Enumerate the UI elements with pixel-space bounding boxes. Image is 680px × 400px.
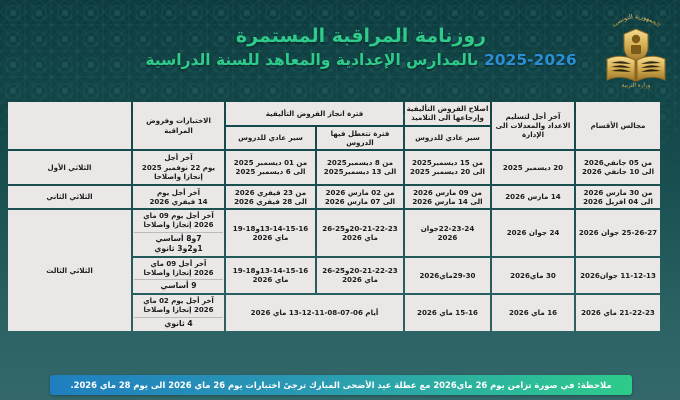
cell-level: آخر أجل يوم 02 ماي2026 إنجازا واصلاحا4 ث… bbox=[133, 295, 224, 330]
cell-councils: 21-22-23 ماي 2026 bbox=[576, 295, 660, 330]
col-subheader-suspended: فترة تتعطل فيها الدروس bbox=[317, 127, 403, 150]
cell-tests: آخر أجل يوم 09 ماي2026 إنجازا واصلاحا bbox=[134, 212, 223, 232]
continuous-assessment-calendar-table: مجالس الأقسام آخر أجل لتسليم الاعداد وال… bbox=[6, 100, 662, 333]
cell-tests: آخر أجل يوم 02 ماي2026 إنجازا واصلاحا bbox=[134, 297, 223, 317]
cell-tests: آخر أجل 09 ماي2026 إنجازا واصلاحا bbox=[134, 260, 223, 280]
col-header-exam-period-group: فترة انجاز الفروض التأليفية bbox=[226, 102, 403, 125]
cell-councils: 25-26-27 جوان 2026 bbox=[576, 210, 660, 256]
footer-note-banner: ملاحظة: في صورة تزامن يوم 26 ماي2026 مع … bbox=[50, 375, 632, 395]
cell-level-label: 4 ثانوي bbox=[134, 319, 223, 329]
col-header-councils: مجالس الأقسام bbox=[576, 102, 660, 149]
emblem-icon: الجمهورية التونسية وزارة التربية bbox=[601, 7, 671, 89]
cell-tests: آخر أجل يوم14 فيفري 2026 bbox=[133, 186, 224, 209]
cell-trimester: الثلاثي الثالث bbox=[8, 210, 131, 330]
cell-submit-deadline: 20 ديسمبر 2025 bbox=[492, 151, 574, 183]
col-header-tests-group: الاختبارات وفروض المراقبة bbox=[133, 102, 224, 149]
cell-trimester: الثلاثي الثاني bbox=[8, 186, 131, 209]
page-title-line1: روزنامة المراقبة المستمرة bbox=[145, 24, 576, 50]
svg-text:الجمهورية التونسية: الجمهورية التونسية bbox=[611, 13, 662, 29]
cell-submit-deadline: 30 ماي2026 bbox=[492, 258, 574, 293]
cell-suspended: من 02 مارس 2026الى 07 مارس 2026 bbox=[317, 186, 403, 209]
ministry-emblem-logo: الجمهورية التونسية وزارة التربية bbox=[600, 6, 672, 90]
cell-normal-left: من 23 فيفري 2026الى 28 فيفري 2026 bbox=[226, 186, 315, 209]
cell-submit-deadline: 16 ماي 2026 bbox=[492, 295, 574, 330]
svg-text:وزارة التربية: وزارة التربية bbox=[622, 83, 651, 89]
page-subtitle-text: بالمدارس الإعدادية والمعاهد للسنة الدراس… bbox=[145, 51, 478, 69]
cell-level: 7و8 أساسي1و2و3 ثانوي bbox=[134, 234, 223, 254]
cell-normal-left: 13-14-15-16و18-19ماي 2026 bbox=[226, 258, 315, 293]
cell-level-label: 9 أساسي bbox=[134, 281, 223, 291]
cell-councils: 11-12-13 جوان2026 bbox=[576, 258, 660, 293]
table-header: مجالس الأقسام آخر أجل لتسليم الاعداد وال… bbox=[8, 102, 660, 149]
cell-correction: 22-23-24جوان2026 bbox=[405, 210, 490, 256]
cell-merged-exam-period: أيام 06-07-08-11-12-13 ماي 2026 bbox=[226, 295, 403, 330]
page-header: روزنامة المراقبة المستمرة 2025-2026 بالم… bbox=[0, 0, 680, 96]
cell-councils: من 30 مارس 2026الى 04 افريل 2026 bbox=[576, 186, 660, 209]
cell-trimester: الثلاثي الأول bbox=[8, 151, 131, 183]
title-block: روزنامة المراقبة المستمرة 2025-2026 بالم… bbox=[103, 24, 576, 71]
footer-note-text: ملاحظة: في صورة تزامن يوم 26 ماي2026 مع … bbox=[70, 380, 611, 390]
cell-normal-left: 13-14-15-16و18-19ماي 2026 bbox=[226, 210, 315, 256]
cell-level: آخر أجل 09 ماي2026 إنجازا واصلاحا9 أساسي bbox=[133, 258, 224, 293]
table-header-row-1: مجالس الأقسام آخر أجل لتسليم الاعداد وال… bbox=[8, 102, 660, 125]
cell-correction: من 15 ديسمبر2025الى 20 ديسمبر 2025 bbox=[405, 151, 490, 183]
col-header-trimester-blank bbox=[8, 102, 131, 149]
cell-suspended: 20-21-22-23و25-26ماي 2026 bbox=[317, 210, 403, 256]
col-subheader-normal-right: سير عادي للدروس bbox=[405, 127, 490, 150]
col-header-submit-deadline: آخر أجل لتسليم الاعداد والمعدلات الى الإ… bbox=[492, 102, 574, 149]
cell-submit-deadline: 14 مارس 2026 bbox=[492, 186, 574, 209]
cell-suspended: 20-21-22-23و25-26ماي 2026 bbox=[317, 258, 403, 293]
table-row: من 05 جانفي2026الى 10 جانفي 2026 20 ديسم… bbox=[8, 151, 660, 183]
cell-correction: من 09 مارس 2026الى 14 مارس 2026 bbox=[405, 186, 490, 209]
col-subheader-normal-left: سير عادي للدروس bbox=[226, 127, 315, 150]
page-title-line2: 2025-2026 بالمدارس الإعدادية والمعاهد لل… bbox=[145, 50, 576, 72]
cell-tests: آخر أجليوم 22 نوفمبر 2025إنجازا واصلاحا bbox=[133, 151, 224, 183]
col-header-correction: اصلاح الفروض التأليفية وإرجاعها الى التل… bbox=[405, 102, 490, 125]
calendar-table-container: مجالس الأقسام آخر أجل لتسليم الاعداد وال… bbox=[18, 100, 662, 333]
cell-correction: 15-16 ماي 2026 bbox=[405, 295, 490, 330]
cell-normal-left: من 01 ديسمبر 2025الى 6 ديسمبر 2025 bbox=[226, 151, 315, 183]
table-row: من 30 مارس 2026الى 04 افريل 2026 14 مارس… bbox=[8, 186, 660, 209]
cell-submit-deadline: 24 جوان 2026 bbox=[492, 210, 574, 256]
table-body: من 05 جانفي2026الى 10 جانفي 2026 20 ديسم… bbox=[8, 151, 660, 330]
table-row: 25-26-27 جوان 2026 24 جوان 2026 22-23-24… bbox=[8, 210, 660, 256]
cell-correction: 29-30ماي2026 bbox=[405, 258, 490, 293]
cell-tests-with-level: آخر أجل يوم 09 ماي2026 إنجازا واصلاحا7و8… bbox=[133, 210, 224, 256]
cell-suspended: من 8 ديسمبر2025الى 13 ديسمبر2025 bbox=[317, 151, 403, 183]
cell-councils: من 05 جانفي2026الى 10 جانفي 2026 bbox=[576, 151, 660, 183]
school-year-range: 2025-2026 bbox=[484, 51, 577, 69]
